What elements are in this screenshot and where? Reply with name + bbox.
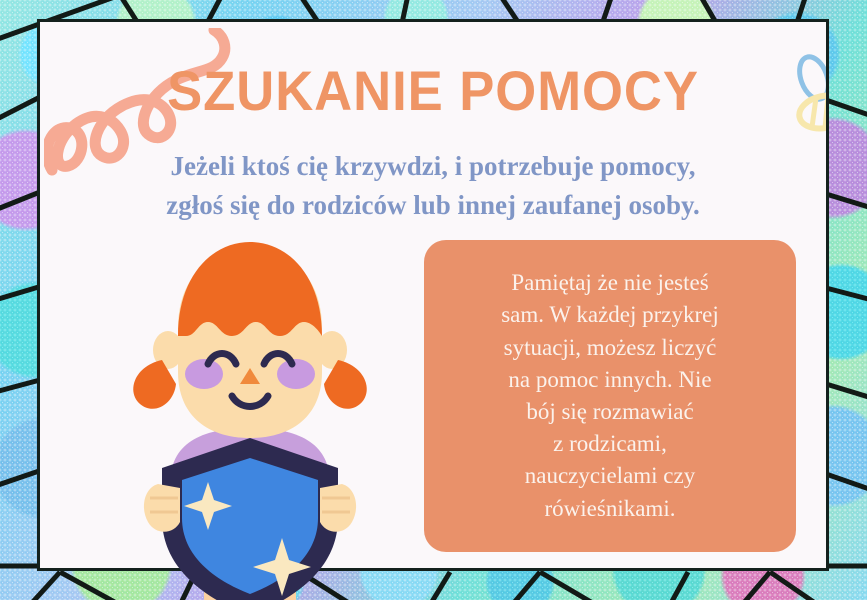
- page-title: SZUKANIE POMOCY: [64, 58, 803, 123]
- hand-right: [320, 484, 356, 532]
- message-line-6: z rodzicami,: [501, 428, 719, 460]
- poster-canvas: SZUKANIE POMOCY Jeżeli ktoś cię krzywdzi…: [0, 0, 867, 600]
- message-line-4: na pomoc innych. Nie: [501, 364, 719, 396]
- shield: [162, 438, 338, 600]
- hair: [178, 242, 322, 336]
- subtitle-line-2: zgłoś się do rodziców lub innej zaufanej…: [40, 186, 826, 225]
- hand-left: [144, 484, 180, 532]
- girl-holding-shield-illustration: [100, 232, 400, 600]
- subtitle-line-1: Jeżeli ktoś cię krzywdzi, i potrzebuje p…: [40, 147, 826, 186]
- message-line-3: sytuacji, możesz liczyć: [501, 332, 719, 364]
- message-line-8: rówieśnikami.: [501, 493, 719, 525]
- message-line-5: bój się rozmawiać: [501, 396, 719, 428]
- message-line-1: Pamiętaj że nie jesteś: [501, 267, 719, 299]
- message-box: Pamiętaj że nie jesteś sam. W każdej prz…: [424, 240, 796, 552]
- message-text: Pamiętaj że nie jesteś sam. W każdej prz…: [501, 267, 719, 525]
- blush-right: [277, 359, 315, 389]
- message-line-2: sam. W każdej przykrej: [501, 299, 719, 331]
- blush-left: [185, 359, 223, 389]
- subtitle-block: Jeżeli ktoś cię krzywdzi, i potrzebuje p…: [40, 147, 826, 226]
- message-line-7: nauczycielami czy: [501, 460, 719, 492]
